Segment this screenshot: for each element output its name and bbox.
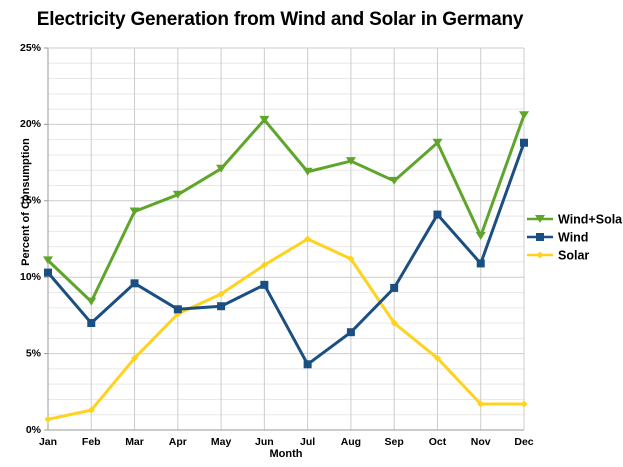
series-line [48, 239, 524, 419]
legend-item-wind-plus-solar[interactable]: Wind+Solar [527, 212, 623, 226]
data-point-marker [476, 232, 486, 240]
legend-label: Wind+Solar [558, 212, 623, 226]
legend-label: Wind [558, 230, 588, 244]
x-tick-label: Nov [471, 436, 491, 448]
x-tick-label: Apr [169, 436, 187, 448]
minor-gridlines [48, 63, 524, 414]
data-point-marker [537, 252, 544, 259]
data-point-marker [433, 211, 441, 219]
data-series-layer [43, 111, 529, 423]
data-point-marker [86, 298, 96, 306]
data-point-marker [519, 111, 529, 119]
legend-item-wind[interactable]: Wind [527, 230, 588, 244]
x-tick-label: Oct [429, 436, 447, 448]
data-point-marker [174, 305, 182, 313]
data-point-marker [520, 139, 528, 147]
data-point-marker [260, 281, 268, 289]
data-point-marker [536, 233, 544, 241]
x-tick-label: Jul [300, 436, 315, 448]
data-point-marker [390, 284, 398, 292]
y-axis-title: Percent of Consumption [20, 122, 32, 282]
series-wind-plus-solar [43, 111, 529, 305]
x-tick-label: Dec [514, 436, 533, 448]
y-tick-label: 25% [20, 42, 42, 54]
data-point-marker [87, 319, 95, 327]
x-axis-title: Month [48, 448, 524, 460]
x-tick-label: Jan [39, 436, 57, 448]
data-point-marker [521, 401, 528, 408]
x-tick-label: Sep [385, 436, 404, 448]
data-point-marker [45, 416, 52, 423]
legend-label: Solar [558, 248, 589, 262]
series-line [48, 115, 524, 301]
x-tick-label: Jun [255, 436, 274, 448]
series-solar [45, 236, 528, 423]
x-tick-label: Mar [125, 436, 144, 448]
y-tick-label: 0% [26, 424, 42, 436]
x-tick-label: Aug [341, 436, 361, 448]
data-point-marker [131, 279, 139, 287]
data-point-marker [304, 360, 312, 368]
legend-item-solar[interactable]: Solar [527, 248, 589, 262]
x-tick-label: May [211, 436, 232, 448]
chart-container: Electricity Generation from Wind and Sol… [0, 0, 623, 467]
data-point-marker [217, 302, 225, 310]
data-point-marker [347, 328, 355, 336]
x-axis-tick-labels: JanFebMarAprMayJunJulAugSepOctNovDec [39, 436, 534, 448]
data-point-marker [44, 269, 52, 277]
data-point-marker [477, 259, 485, 267]
line-chart-plot: 0%5%10%15%20%25% JanFebMarAprMayJunJulAu… [0, 0, 623, 467]
y-tick-label: 5% [26, 347, 42, 359]
chart-legend: Wind+SolarWindSolar [527, 212, 623, 262]
x-tick-label: Feb [82, 436, 101, 448]
